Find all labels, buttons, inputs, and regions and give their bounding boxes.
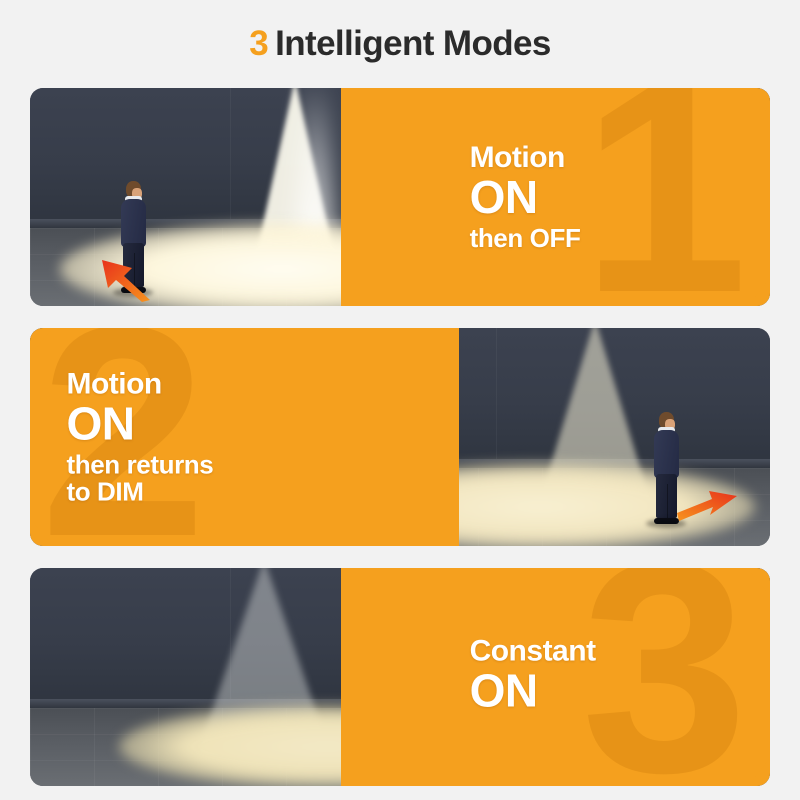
- mode-panel-1[interactable]: 1 Motion ON then OFF: [30, 88, 770, 306]
- caption-text-2: Motion ON then returns to DIM: [66, 368, 213, 505]
- caption-line-4: to DIM: [66, 479, 213, 506]
- title-text: Intelligent Modes: [275, 24, 551, 63]
- caption-block-3: 3 Constant ON: [341, 568, 770, 786]
- person-torso: [121, 199, 146, 247]
- caption-line-2: ON: [470, 174, 581, 222]
- arrow-leaving-right-icon: [677, 488, 739, 524]
- caption-block-1: 1 Motion ON then OFF: [341, 88, 770, 306]
- caption-text-1: Motion ON then OFF: [470, 142, 581, 252]
- caption-line-2: ON: [66, 401, 213, 449]
- caption-line-2: ON: [470, 668, 596, 716]
- caption-line-3: then OFF: [470, 225, 581, 252]
- caption-line-1: Motion: [470, 142, 581, 173]
- person-legs: [656, 474, 677, 518]
- page-header: 3Intelligent Modes: [0, 0, 800, 88]
- caption-block-2: 2 Motion ON then returns to DIM: [30, 328, 459, 546]
- page-title: 3Intelligent Modes: [249, 24, 551, 64]
- modes-list: 1 Motion ON then OFF: [0, 88, 800, 786]
- caption-line-1: Constant: [470, 635, 596, 666]
- title-number: 3: [249, 24, 268, 63]
- caption-text-3: Constant ON: [470, 635, 596, 718]
- arrow-into-light-icon: [88, 256, 154, 302]
- person-torso: [654, 430, 679, 478]
- caption-line-1: Motion: [66, 368, 213, 399]
- caption-line-3: then returns: [66, 451, 213, 478]
- mode-panel-3[interactable]: 3 Constant ON: [30, 568, 770, 786]
- mode-panel-2[interactable]: 2 Motion ON then returns to DIM: [30, 328, 770, 546]
